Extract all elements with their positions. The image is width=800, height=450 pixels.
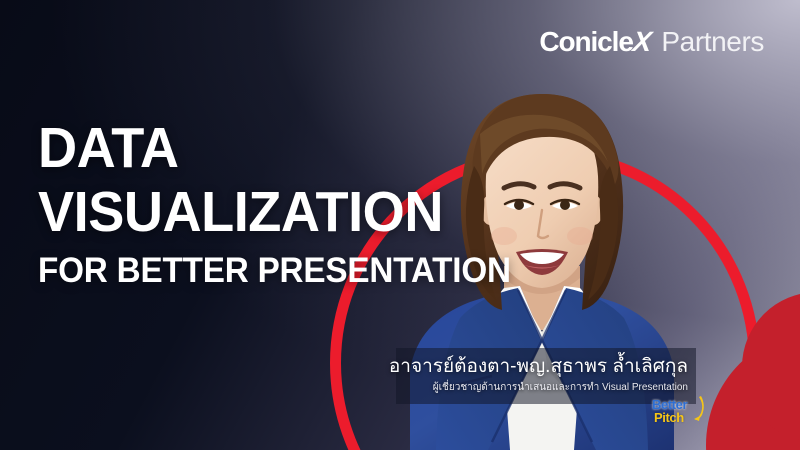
headline-line-3: FOR BETTER PRESENTATION	[38, 255, 511, 288]
brand-logo: ConicleX Partners	[539, 26, 764, 58]
betterpitch-logo: Better Pitch	[652, 398, 687, 424]
speaker-role: ผู้เชี่ยวชาญด้านการนำเสนอและการทำ Visual…	[433, 380, 688, 395]
presentation-slide: ConicleX Partners DATA VISUALIZATION FOR…	[0, 0, 800, 450]
betterpitch-swoosh-icon	[690, 395, 706, 421]
speaker-name: อาจารย์ต้องตา-พญ.สุธาพร ล้ำเลิศกุล	[389, 357, 688, 378]
betterpitch-word-pitch: Pitch	[654, 411, 687, 424]
headline-line-1: DATA	[38, 122, 511, 176]
headline-line-2: VISUALIZATION	[38, 186, 511, 240]
headline-block: DATA VISUALIZATION FOR BETTER PRESENTATI…	[38, 122, 536, 288]
brand-mark: ConicleX	[539, 26, 650, 58]
brand-word: Partners	[661, 26, 764, 58]
speaker-name-band: อาจารย์ต้องตา-พญ.สุธาพร ล้ำเลิศกุล ผู้เช…	[396, 348, 696, 404]
brand-mark-text: Conicle	[539, 26, 632, 57]
brand-x-icon: X	[631, 26, 652, 58]
